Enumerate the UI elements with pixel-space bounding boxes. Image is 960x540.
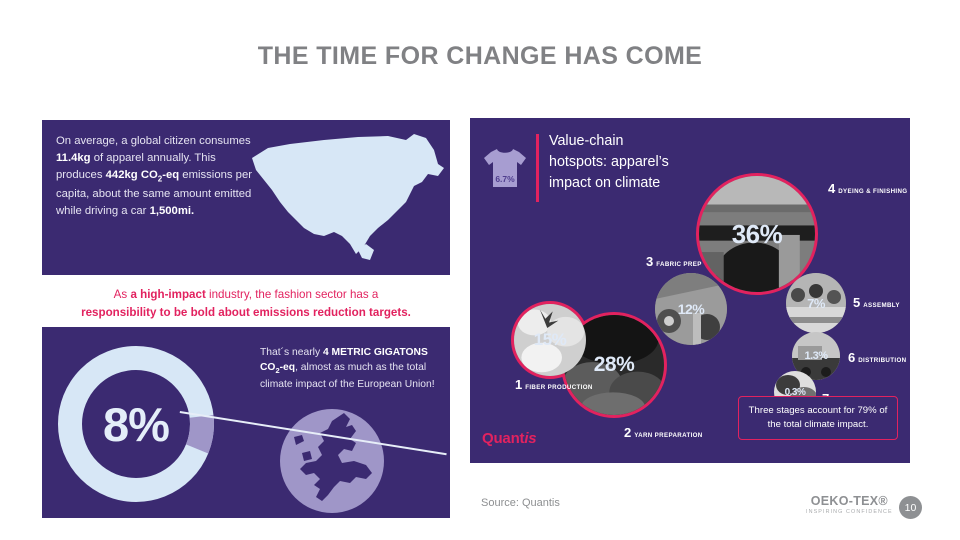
page-number-badge: 10 [899, 496, 922, 519]
value-chain-bubble-panel: 6.7% Value-chain hotspots: apparel’s imp… [470, 118, 910, 463]
quantis-logo: Quantis [482, 430, 536, 447]
bubble-pct-assembly: 7% [807, 296, 825, 311]
bubble-label-assembly: 5ASSEMBLY [853, 294, 900, 312]
bubble-pct-fiber: 15% [534, 330, 567, 350]
caption-pre: As [114, 288, 131, 301]
bubble-label-fabric: 3FABRIC PREP [646, 253, 702, 271]
page-title: THE TIME FOR CHANGE HAS COME [0, 42, 960, 71]
donut-text-bold: 4 METRIC GIGATONS [323, 347, 428, 358]
bubble-label-distribution: 6DISTRIBUTION [848, 349, 906, 367]
bubble-assembly[interactable]: 7% [786, 273, 846, 333]
oeko-tex-logo: OEKO-TEX® INSPIRING CONFIDENCE [806, 494, 893, 515]
co2-formula: CO2-eq [141, 169, 179, 181]
map-panel-text: On average, a global citizen consumes 11… [56, 133, 261, 220]
map-text-pre: On average, a global citizen consumes [56, 135, 251, 147]
bubble-fiber-production[interactable]: 15% [511, 301, 589, 379]
us-map-silhouette-icon [238, 124, 450, 275]
map-text-miles: 1,500mi. [150, 205, 195, 217]
europe-map-circle-icon [280, 409, 384, 513]
oeko-tex-tagline: INSPIRING CONFIDENCE [806, 509, 893, 515]
map-text-kg: 11.4kg [56, 152, 91, 164]
slide-canvas: THE TIME FOR CHANGE HAS COME On average,… [0, 0, 960, 540]
source-caption: Source: Quantis [481, 497, 560, 509]
bubble-label-dyeing: 4DYEING & FINISHING [828, 180, 907, 198]
heading-line-1: Value-chain [549, 131, 759, 152]
donut-co2-formula: CO2-eq [260, 362, 295, 373]
donut-center-value: 8% [52, 340, 220, 508]
heading-line-2: hotspots: apparel’s [549, 152, 759, 173]
map-text-co2kg: 442kg [106, 169, 138, 181]
oeko-tex-wordmark: OEKO-TEX® [806, 494, 893, 508]
bubble-fabric-prep[interactable]: 12% [655, 273, 727, 345]
bubble-pct-yarn: 28% [594, 353, 635, 377]
caption-mid: industry, the fashion sector has a [206, 288, 379, 301]
donut-text-pre: That´s nearly [260, 347, 323, 358]
accent-bar [536, 134, 539, 202]
summary-callout: Three stages account for 79% of the tota… [738, 396, 898, 440]
bubble-label-yarn: 2YARN PREPARATION [624, 424, 703, 442]
bubble-pct-dyeing: 36% [732, 219, 783, 250]
bubble-pct-distribution: 1.3% [804, 350, 827, 362]
tshirt-percentage-label: 6.7% [481, 143, 529, 191]
map-infographic-panel: On average, a global citizen consumes 11… [42, 120, 450, 275]
bubble-pct-fabric: 12% [678, 301, 705, 317]
donut-panel-text: That´s nearly 4 METRIC GIGATONS CO2-eq, … [260, 345, 442, 392]
caption-bold-2: responsibility to be bold about emission… [81, 306, 411, 319]
bubble-label-fiber: 1FIBER PRODUCTION [515, 376, 593, 394]
caption-bold-1: a high-impact [130, 288, 205, 301]
impact-caption: As a high-impact industry, the fashion s… [42, 286, 450, 322]
